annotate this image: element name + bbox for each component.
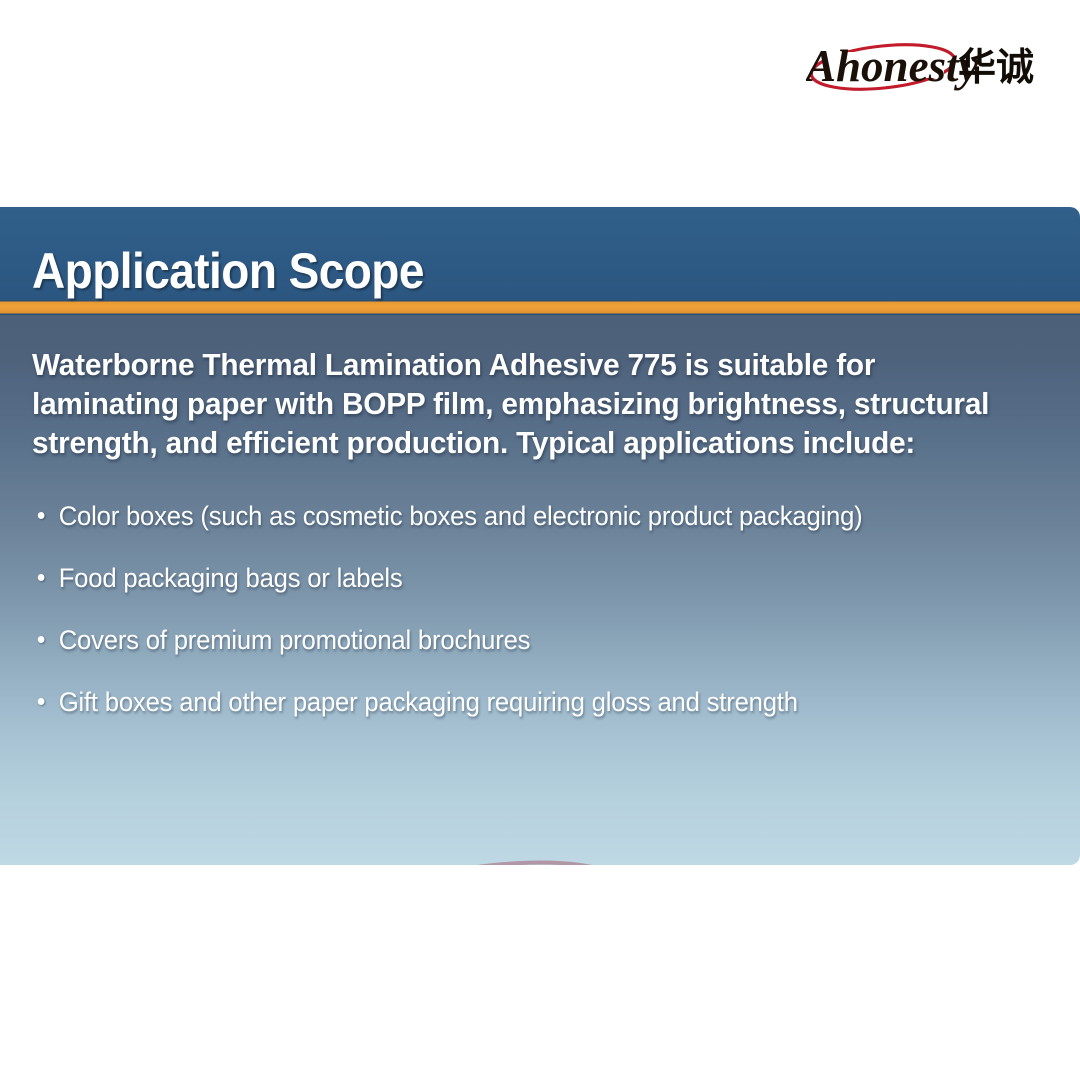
brand-logo: Ahonesty 华诚 [806, 36, 1042, 98]
intro-paragraph: Waterborne Thermal Lamination Adhesive 7… [32, 345, 1011, 462]
bullet-dot-icon [38, 574, 45, 581]
application-list: Color boxes (such as cosmetic boxes and … [34, 503, 1054, 751]
brand-logo-text-en: Ahonesty [806, 41, 980, 91]
list-item-label: Gift boxes and other paper packaging req… [59, 687, 798, 717]
application-scope-card: Application Scope Waterborne Thermal Lam… [0, 207, 1080, 865]
list-item: Covers of premium promotional brochures [34, 627, 1003, 689]
bullet-dot-icon [38, 636, 45, 643]
page-title: Application Scope [32, 246, 424, 296]
list-item-label: Color boxes (such as cosmetic boxes and … [59, 501, 863, 531]
brand-logo-icon: Ahonesty 华诚 [806, 36, 1042, 98]
list-item: Gift boxes and other paper packaging req… [34, 689, 1003, 751]
page-header: Ahonesty 华诚 [0, 0, 1080, 207]
list-item-label: Food packaging bags or labels [59, 563, 403, 593]
list-item: Food packaging bags or labels [34, 565, 1003, 627]
list-item: Color boxes (such as cosmetic boxes and … [34, 503, 1003, 565]
brand-watermark: Ahonesty 华诚 [368, 852, 760, 865]
brand-watermark-icon: Ahonesty 华诚 [368, 852, 760, 865]
bullet-dot-icon [38, 512, 45, 519]
bullet-dot-icon [38, 698, 45, 705]
accent-divider [0, 300, 1080, 315]
card-body: Waterborne Thermal Lamination Adhesive 7… [0, 315, 1080, 865]
page-footer-space [0, 865, 1080, 1080]
brand-logo-text-cn: 华诚 [958, 45, 1034, 89]
card-header: Application Scope [0, 207, 1080, 300]
list-item-label: Covers of premium promotional brochures [59, 625, 531, 655]
